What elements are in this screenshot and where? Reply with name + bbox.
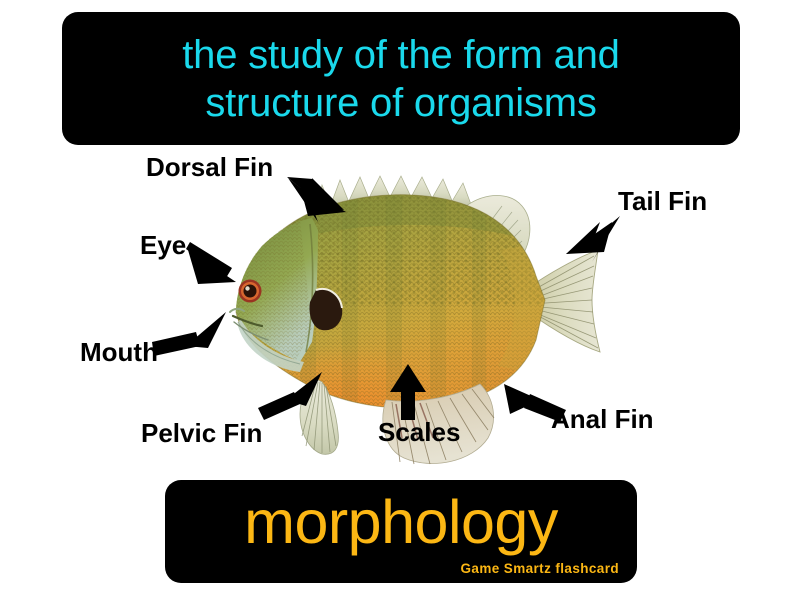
arrow-dorsal-fin <box>287 177 346 222</box>
dorsal-fin-spiny <box>316 176 472 212</box>
flashcard: the study of the form and structure of o… <box>0 0 800 600</box>
term-banner: morphology Game Smartz flashcard <box>165 480 637 583</box>
label-mouth: Mouth <box>80 337 158 367</box>
label-scales: Scales <box>378 417 460 447</box>
label-eye: Eye <box>140 230 186 260</box>
brand-watermark: Game Smartz flashcard <box>461 561 619 576</box>
label-arrows <box>152 177 620 422</box>
dorsal-fin-soft <box>466 196 530 280</box>
label-dorsal-fin: Dorsal Fin <box>146 152 273 182</box>
label-pelvic-fin: Pelvic Fin <box>141 418 262 448</box>
operculum-spot <box>310 289 343 330</box>
fish-head <box>230 210 330 372</box>
arrow-mouth <box>152 312 226 356</box>
arrow-eye <box>186 242 236 284</box>
fish-body <box>230 185 560 434</box>
label-anal-fin: Anal Fin <box>551 404 654 434</box>
label-tail-fin: Tail Fin <box>618 186 707 216</box>
definition-text: the study of the form and structure of o… <box>164 31 637 127</box>
fish-eye <box>239 280 262 303</box>
pectoral-fin <box>350 300 398 341</box>
pelvic-fin <box>300 380 338 454</box>
definition-banner: the study of the form and structure of o… <box>62 12 740 145</box>
arrow-scales <box>390 364 426 420</box>
arrow-pelvic-fin <box>258 372 322 420</box>
term-text: morphology <box>165 486 637 558</box>
tail-fin <box>522 250 600 352</box>
arrow-tail-fin <box>566 216 620 262</box>
